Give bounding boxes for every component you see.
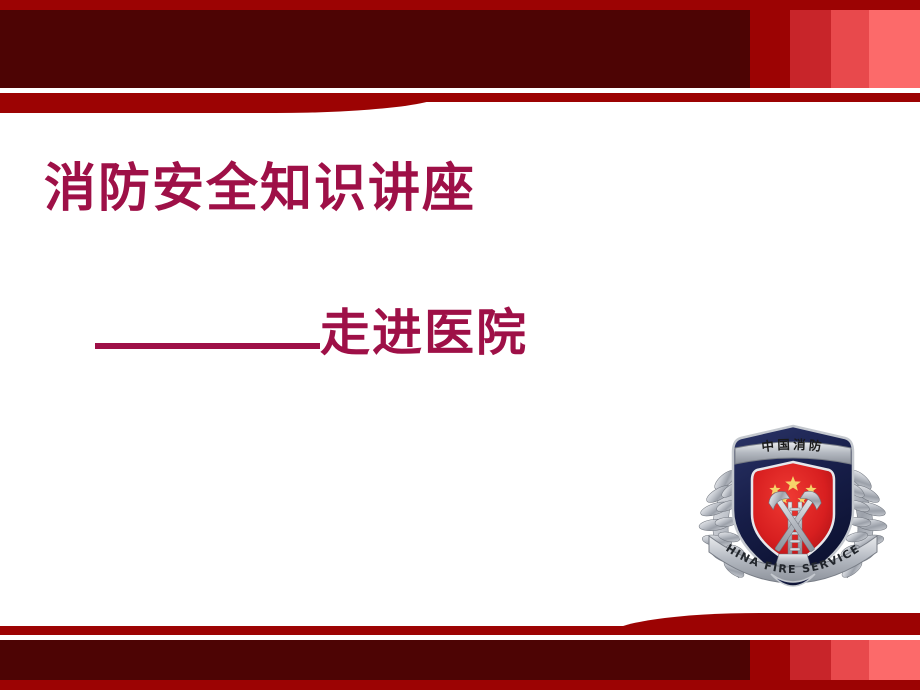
bottom-dark-banner (0, 640, 750, 680)
top-gradient-band-1 (750, 10, 790, 88)
top-curved-lobe (0, 93, 445, 113)
top-gradient-band-2 (790, 10, 831, 88)
subtitle-dash-rule (95, 343, 320, 349)
top-gradient-band-4 (869, 10, 920, 88)
page-title: 消防安全知识讲座 (44, 160, 476, 220)
bottom-gradient-band-2 (790, 640, 831, 680)
bottom-gradient-band-4 (869, 640, 920, 680)
top-accent-strip (0, 0, 920, 10)
slide-canvas: 消防安全知识讲座 走进医院 (0, 0, 920, 690)
bottom-curved-lobe (610, 613, 920, 635)
bottom-gradient-band-1 (750, 640, 790, 680)
china-fire-services-emblem-icon: 中国消防 (695, 418, 891, 602)
top-gradient-band-3 (831, 10, 869, 88)
subtitle-text: 走进医院 (320, 305, 528, 363)
top-dark-banner (0, 10, 750, 88)
subtitle-row: 走进医院 (95, 305, 528, 363)
bottom-gradient-band-3 (831, 640, 869, 680)
bottom-accent-strip (0, 680, 920, 690)
